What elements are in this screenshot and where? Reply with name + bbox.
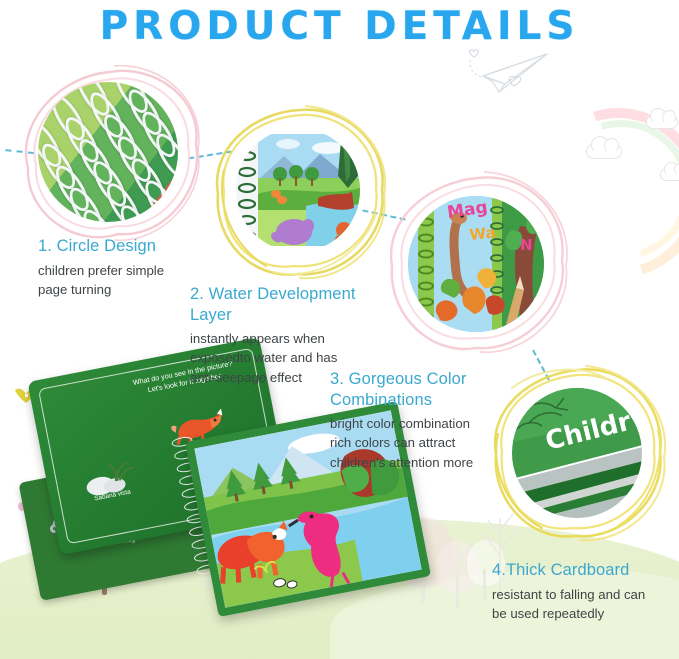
- spiral-binding-photo: [38, 82, 178, 222]
- page-spiral-icon: [236, 128, 260, 252]
- cardboard-edges-photo: Childr: [512, 388, 642, 518]
- ghost-tree-2: [436, 541, 480, 593]
- feature-title: 4.Thick Cardboard: [492, 560, 677, 581]
- svg-text:N: N: [520, 236, 533, 254]
- feature-title: 3. Gorgeous Color Combinations: [330, 369, 525, 410]
- cloud-icon: [660, 168, 679, 181]
- pen-icon: [312, 128, 360, 212]
- feature-title: 1. Circle Design: [38, 236, 218, 257]
- water-painted-page-photo: [236, 128, 360, 252]
- feature-text-thick-cardboard: 4.Thick Cardboard resistant to falling a…: [492, 560, 677, 623]
- dino-covers-art: Mag Wa N: [408, 196, 544, 332]
- page-title: PRODUCT DETAILS: [0, 4, 679, 49]
- feature-title: 2. Water Development Layer: [190, 284, 390, 325]
- feature-body: bright color combination rich colors can…: [330, 414, 525, 471]
- svg-text:Wa: Wa: [469, 223, 497, 244]
- infographic-canvas: PRODUCT DETAILS: [0, 0, 679, 659]
- feature-text-color-combinations: 3. Gorgeous Color Combinations bright co…: [330, 369, 525, 472]
- cardboard-art: Childr: [512, 388, 642, 518]
- cloud-icon: [586, 144, 622, 159]
- feature-body: resistant to falling and can be used rep…: [492, 585, 677, 623]
- cloud-icon: [646, 115, 678, 129]
- dinosaur-covers-photo: Mag Wa N: [408, 196, 544, 332]
